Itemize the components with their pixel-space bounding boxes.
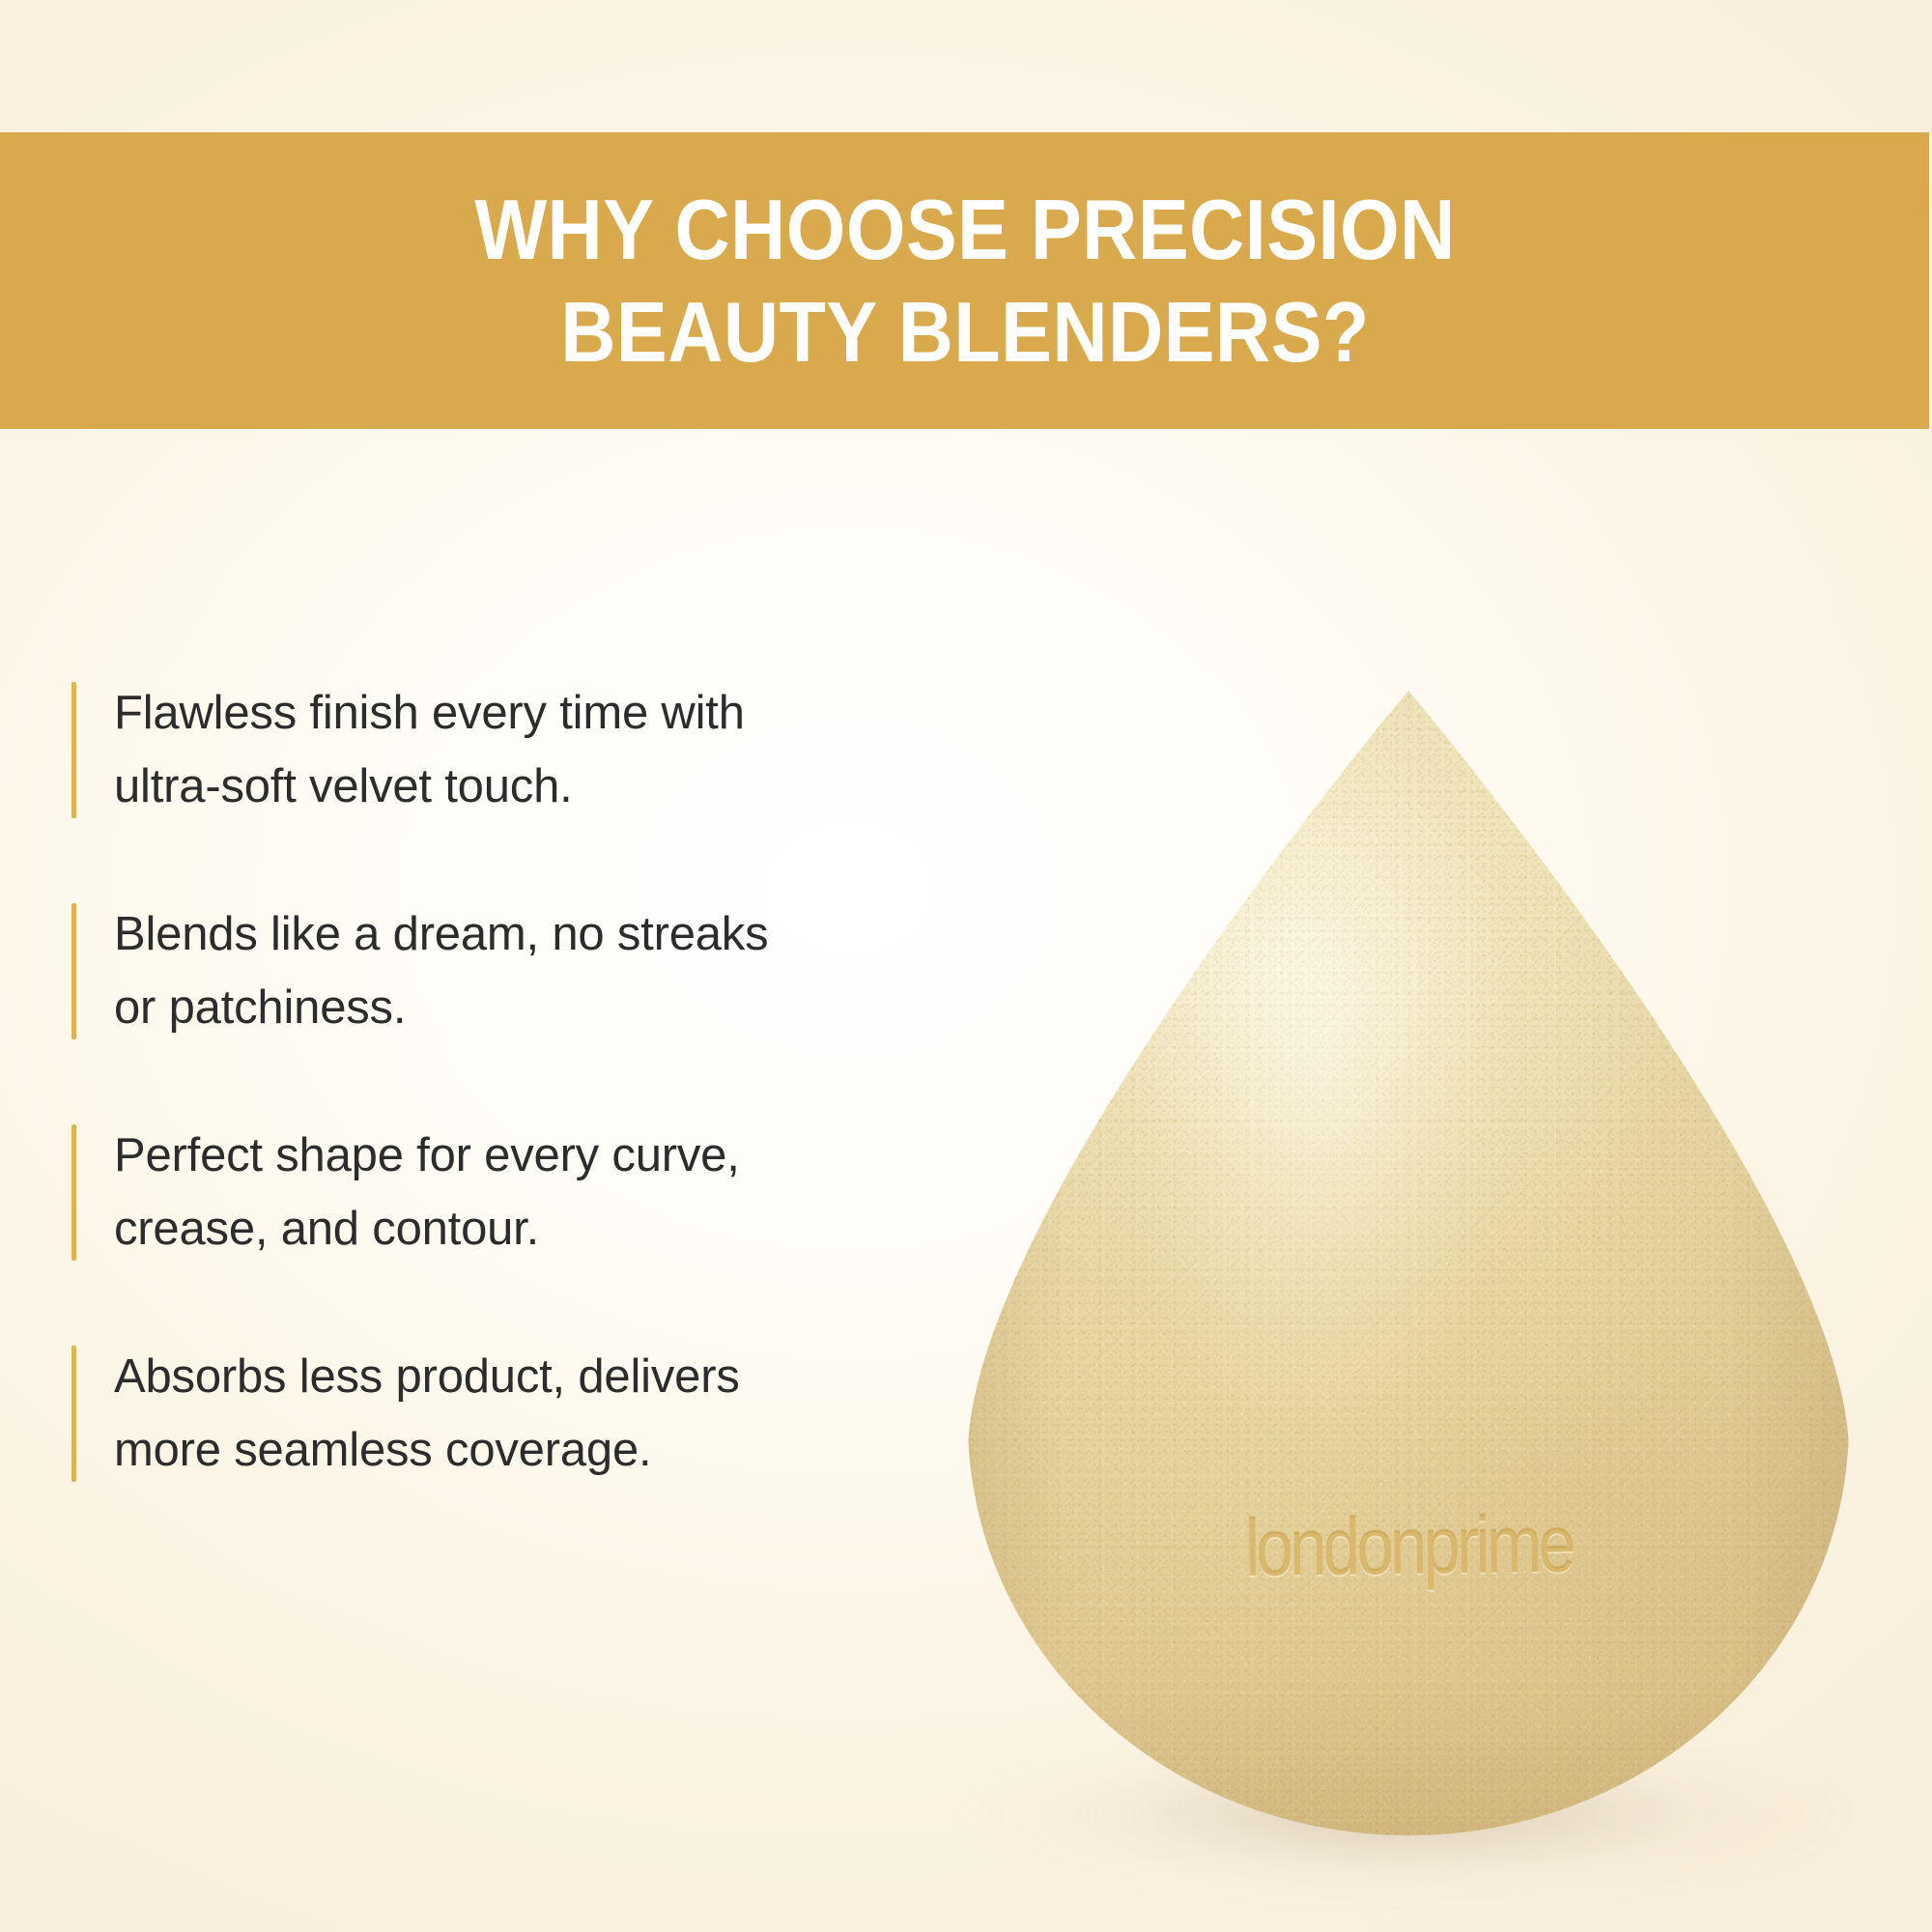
benefit-item-4: Absorbs less product, delivers more seam… [71,1340,960,1488]
header-band: WHY CHOOSE PRECISION BEAUTY BLENDERS? [0,132,1929,429]
accent-bar-icon [71,903,76,1039]
benefit-text-1: Flawless finish every time with ultra-so… [114,676,960,824]
accent-bar-icon [71,1346,76,1482]
sponge-edge-shading [968,691,1849,1835]
product-image-beauty-blender: londonprime [927,667,1893,1913]
promo-graphic: WHY CHOOSE PRECISION BEAUTY BLENDERS? Fl… [0,0,1932,1932]
accent-bar-icon [71,1124,76,1261]
benefit-text-3: Perfect shape for every curve, crease, a… [114,1119,960,1266]
benefits-list: Flawless finish every time with ultra-so… [71,676,960,1488]
benefit-item-3: Perfect shape for every curve, crease, a… [71,1119,960,1266]
benefit-item-1: Flawless finish every time with ultra-so… [71,676,960,824]
sponge-body: londonprime [968,691,1849,1835]
benefit-text-4: Absorbs less product, delivers more seam… [114,1340,960,1488]
benefit-item-2: Blends like a dream, no streaks or patch… [71,897,960,1045]
page-title: WHY CHOOSE PRECISION BEAUTY BLENDERS? [287,179,1643,383]
benefit-text-2: Blends like a dream, no streaks or patch… [114,897,960,1045]
accent-bar-icon [71,682,76,818]
